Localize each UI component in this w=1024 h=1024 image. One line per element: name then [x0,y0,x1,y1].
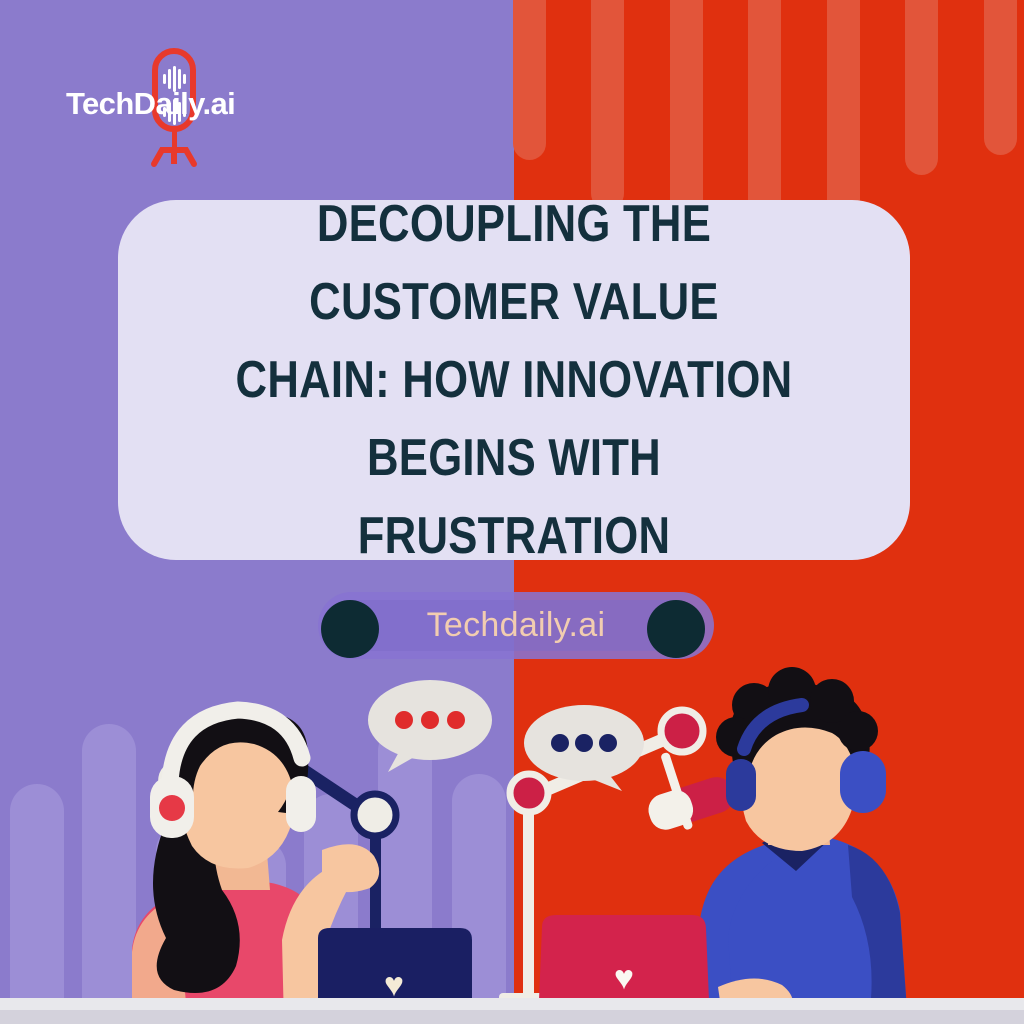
bubble-dot [421,711,439,729]
podcast-cover-canvas: ♥ [0,0,1024,1024]
brand-name: TechDaily.ai [66,88,281,119]
right-host-illustration: ♥ [496,675,1024,1024]
bubble-dot [447,711,465,729]
left-host-illustration: ♥ [70,690,550,1024]
waveform-bar-6 [984,0,1017,155]
title-line-2: FRUSTRATION [358,507,671,565]
left-speech-bubble [368,680,492,772]
waveform-bar-0 [513,0,546,160]
brand-logo[interactable]: TechDaily.ai [66,48,281,168]
bubble-dot [551,734,569,752]
desk-surface [0,998,1024,1010]
bubble-dot [575,734,593,752]
desk-shadow [0,1010,1024,1024]
waveform-bar-1 [591,0,624,210]
title-line-1: CHAIN: HOW INNOVATION BEGINS WITH [236,351,793,487]
waveform-bar-0 [10,784,64,1024]
page-title: DECOUPLING THE CUSTOMER VALUECHAIN: HOW … [200,215,828,545]
bubble-dot [599,734,617,752]
title-line-0: DECOUPLING THE CUSTOMER VALUE [309,195,719,331]
waveform-bar-5 [905,0,938,175]
bubble-dot [395,711,413,729]
headphone-band-label: Techdaily.ai [318,592,714,659]
heart-glyph-right: ♥ [614,959,634,997]
